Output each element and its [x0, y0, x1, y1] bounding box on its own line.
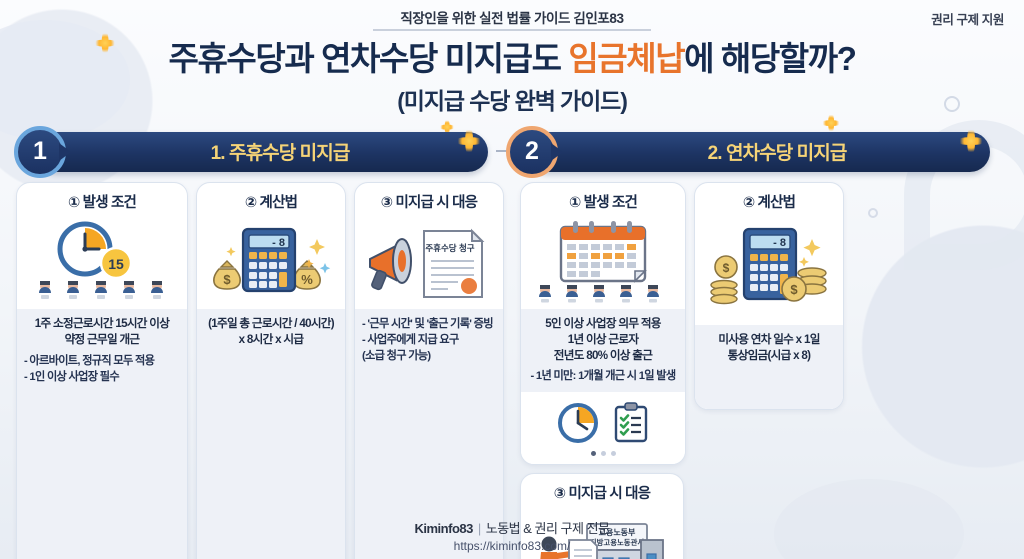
- dot-active[interactable]: [591, 451, 596, 456]
- sparkle-icon: [454, 126, 484, 156]
- clock-with-15-badge-icon: 15: [27, 219, 177, 307]
- megaphone-icon: [370, 239, 411, 290]
- title-part-1: 주휴수당과 연차수당 미지급도: [169, 40, 569, 77]
- section-badge-1: 1: [14, 126, 66, 178]
- card-s2-calculation[interactable]: ② 계산법 $ - 8: [694, 182, 844, 410]
- calculator-coins-icon: $ - 8: [702, 219, 836, 323]
- footer-url[interactable]: https://kiminfo83.com/: [0, 539, 1024, 553]
- section-banner-1[interactable]: 1 1. 주휴수당 미지급: [36, 132, 488, 172]
- card-illustration: 15: [17, 217, 187, 309]
- section-badge-2: 2: [506, 126, 558, 178]
- card-title: ③ 미지급 시 대응: [521, 474, 683, 508]
- card-bullet: (소급 청구 가능): [362, 348, 496, 364]
- footer-icon-strip: [556, 400, 650, 446]
- carousel-dots[interactable]: [591, 451, 616, 456]
- card-line: x 8시간 x 시급: [204, 332, 338, 348]
- clock-icon: [556, 401, 600, 445]
- card-text: 미사용 연차 일수 x 1일 통상임금(시급 x 8): [695, 325, 843, 409]
- megaphone-and-claim-document-icon: 주휴수당 청구: [362, 219, 496, 307]
- section-banner-label-1: 1. 주휴수당 미지급: [175, 138, 350, 165]
- title-block: 주휴수당과 연차수당 미지급도 임금체납에 해당할까? (미지급 수당 완벽 가…: [0, 40, 1024, 116]
- card-s1-response[interactable]: ③ 미지급 시 대응 주휴수당 청구: [354, 182, 504, 559]
- card-illustration: [521, 217, 685, 309]
- card-title: ② 계산법: [197, 183, 345, 217]
- money-bag-right: %: [294, 261, 320, 289]
- section-banner-label-2: 2. 연차수당 미지급: [672, 138, 847, 165]
- title-accent: 임금체납: [568, 40, 684, 77]
- svg-text:- 8: - 8: [773, 237, 786, 249]
- section-2-cards: ① 발생 조건: [520, 182, 1008, 559]
- section-banner-2[interactable]: 2 2. 연차수당 미지급: [528, 132, 990, 172]
- card-bullet: - 사업주에게 지급 요구: [362, 332, 496, 348]
- svg-text:- 8: - 8: [272, 237, 285, 249]
- footer-separator: |: [478, 521, 481, 536]
- card-line: 미사용 연차 일수 x 1일: [702, 332, 836, 348]
- svg-text:$: $: [723, 261, 730, 275]
- checklist-clipboard-icon: [612, 401, 650, 445]
- card-title: ① 발생 조건: [17, 183, 187, 217]
- claim-document-icon: 주휴수당 청구: [424, 231, 482, 297]
- card-bullet: - 1인 이상 사업장 필수: [24, 369, 180, 385]
- svg-text:$: $: [790, 282, 798, 297]
- card-line: 약정 근무일 개근: [24, 332, 180, 348]
- section-banner-row: 1 1. 주휴수당 미지급 2 2. 연차수당 미지급: [0, 128, 1024, 176]
- money-bag-left: $: [214, 261, 240, 289]
- card-s2-conditions[interactable]: ① 발생 조건: [520, 182, 686, 465]
- header-kicker: 직장인을 위한 실전 법률 가이드 김인포83: [0, 7, 1024, 27]
- title-part-2: 에 해당할까?: [684, 40, 855, 77]
- section-1-cards: ① 발생 조건 15: [16, 182, 504, 559]
- sparkle-icon: [799, 239, 821, 267]
- card-title: ① 발생 조건: [521, 183, 685, 217]
- card-line: 1주 소정근로시간 15시간 이상: [24, 316, 180, 332]
- card-line: (1주일 총 근로시간 / 40시간): [204, 316, 338, 332]
- svg-text:15: 15: [108, 256, 124, 272]
- card-s1-calculation[interactable]: ② 계산법 $ % - 8: [196, 182, 346, 559]
- header-divider: [373, 29, 651, 31]
- sparkle-icon: [956, 126, 986, 156]
- footer-tagline: 노동법 & 권리 구제 전문: [486, 521, 610, 536]
- top-bar: 직장인을 위한 실전 법률 가이드 김인포83 권리 구제 지원: [0, 0, 1024, 34]
- card-illustration: 주휴수당 청구: [355, 217, 503, 309]
- card-illustration: $ % - 8: [197, 217, 345, 309]
- card-text: 5인 이상 사업장 의무 적용 1년 이상 근로자 전년도 80% 이상 출근 …: [521, 309, 685, 392]
- coin-stack-left: $: [711, 256, 737, 304]
- card-illustration: $ - 8: [695, 217, 843, 325]
- dot[interactable]: [611, 451, 616, 456]
- page-subtitle: (미지급 수당 완벽 가이드): [0, 82, 1024, 116]
- card-bullet: - 1년 미만: 1개월 개근 시 1일 발생: [528, 368, 678, 384]
- dot[interactable]: [601, 451, 606, 456]
- corner-tag: 권리 구제 지원: [931, 9, 1004, 28]
- card-footer: [521, 392, 685, 464]
- svg-text:$: $: [223, 272, 231, 287]
- card-line: 통상임금(시급 x 8): [702, 348, 836, 364]
- card-bullet: - '근무 시간' 및 '출근 기록' 증빙: [362, 316, 496, 332]
- card-line: 1년 이상 근로자: [528, 332, 678, 348]
- svg-text:%: %: [301, 272, 313, 287]
- sparkle-icon: [320, 263, 330, 273]
- card-line: 전년도 80% 이상 출근: [528, 348, 678, 364]
- card-title: ② 계산법: [695, 183, 843, 217]
- card-bullet: - 아르바이트, 정규직 모두 적용: [24, 353, 180, 369]
- footer-brand-line: Kiminfo83|노동법 & 권리 구제 전문: [0, 518, 1024, 537]
- page-title: 주휴수당과 연차수당 미지급도 임금체납에 해당할까?: [0, 40, 1024, 79]
- card-s1-conditions[interactable]: ① 발생 조건 15: [16, 182, 188, 559]
- doc-label: 주휴수당 청구: [425, 243, 474, 253]
- card-title: ③ 미지급 시 대응: [355, 183, 503, 217]
- footer-brand: Kiminfo83: [415, 521, 473, 536]
- page-footer: Kiminfo83|노동법 & 권리 구제 전문 https://kiminfo…: [0, 518, 1024, 553]
- card-groups: ① 발생 조건 15: [0, 182, 1024, 559]
- card-line: 5인 이상 사업장 의무 적용: [528, 316, 678, 332]
- annual-leave-calendar-icon: [531, 219, 675, 307]
- calculator-money-bags-icon: $ % - 8: [205, 219, 337, 307]
